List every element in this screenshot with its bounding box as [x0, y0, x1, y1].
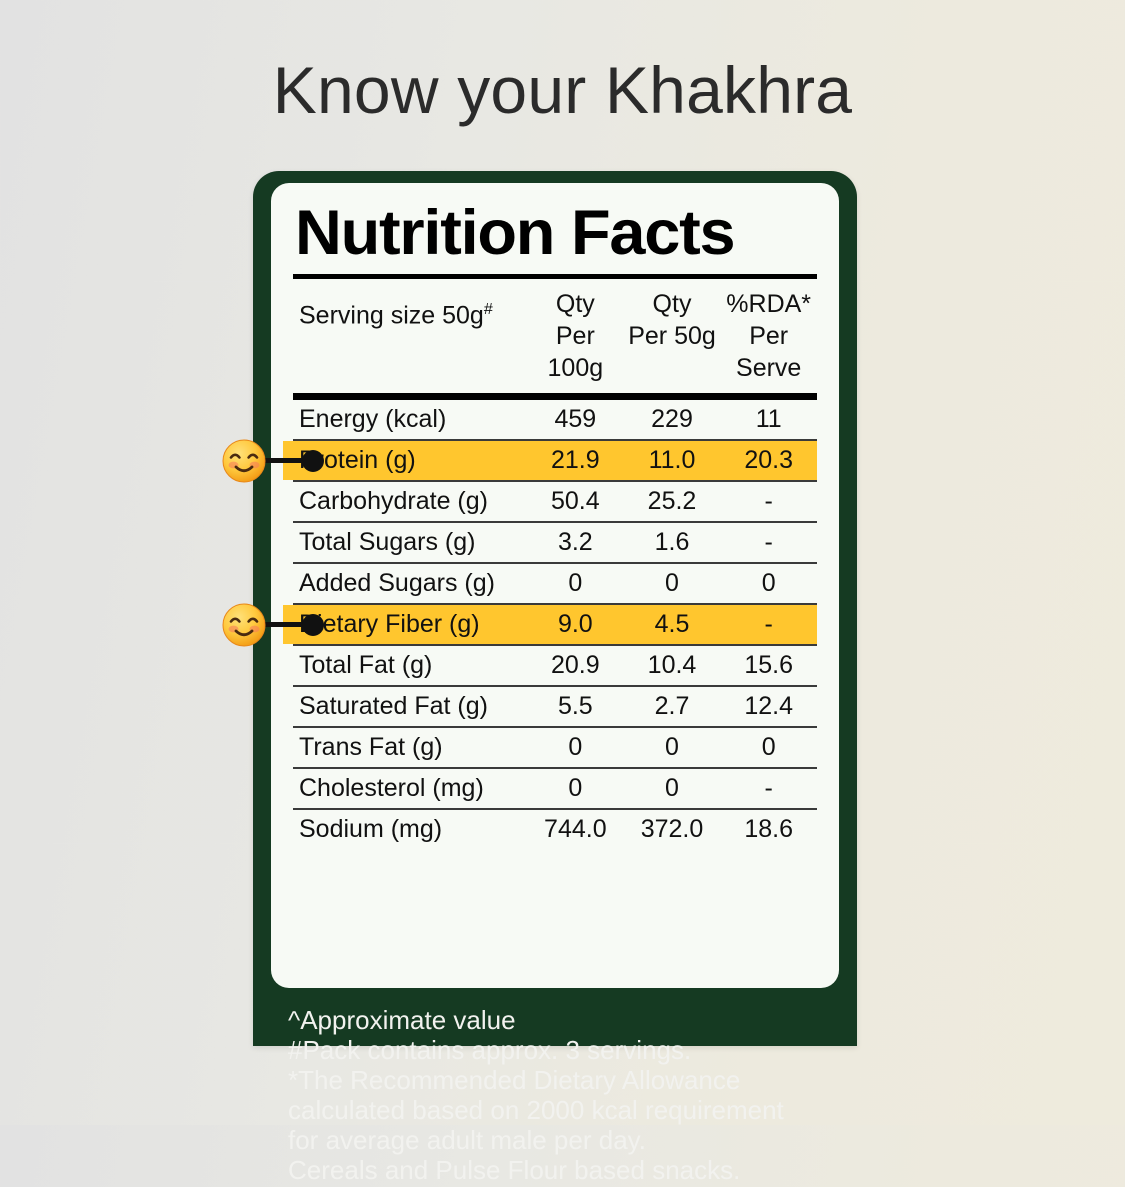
- footnote-line: ^Approximate value: [288, 1007, 828, 1034]
- column-header-per-100g: Qty Per 100g: [527, 288, 624, 384]
- nutrient-value-per50g: 2.7: [624, 692, 721, 721]
- nutrient-value-per100g: 459: [527, 405, 624, 434]
- nutrient-name: Carbohydrate (g): [293, 487, 527, 516]
- footnotes-block: ^Approximate value#Pack contains approx.…: [288, 1007, 828, 1187]
- column-header-rda-line1: %RDA*: [726, 290, 811, 318]
- nutrient-value-per100g: 21.9: [527, 446, 624, 475]
- nutrient-name: Dietary Fiber (g): [293, 610, 527, 639]
- nutrient-name: Total Sugars (g): [293, 528, 527, 557]
- nutrient-name: Trans Fat (g): [293, 733, 527, 762]
- nutrient-name: Energy (kcal): [293, 405, 527, 434]
- nutrient-value-rda: 12.4: [720, 692, 817, 721]
- table-header-row: Serving size 50g# Qty Per 100g Qty Per 5…: [293, 279, 817, 390]
- marker-dot-icon: [302, 614, 324, 636]
- nutrient-value-per50g: 0: [624, 774, 721, 803]
- nutrient-value-per50g: 4.5: [624, 610, 721, 639]
- nutrient-value-rda: -: [720, 610, 817, 639]
- nutrient-name: Cholesterol (mg): [293, 774, 527, 803]
- footnote-line: calculated based on 2000 kcal requiremen…: [288, 1097, 828, 1124]
- page-title: Know your Khakhra: [0, 52, 1125, 128]
- nutrient-value-per50g: 11.0: [624, 446, 721, 475]
- nutrient-value-rda: 20.3: [720, 446, 817, 475]
- nutrient-value-per100g: 20.9: [527, 651, 624, 680]
- nutrient-value-per100g: 0: [527, 774, 624, 803]
- table-row: Total Fat (g)20.910.415.6: [293, 646, 817, 685]
- nutrient-value-rda: 0: [720, 569, 817, 598]
- nutrient-value-per100g: 5.5: [527, 692, 624, 721]
- table-row: Trans Fat (g)000: [293, 728, 817, 767]
- nutrient-value-rda: -: [720, 528, 817, 557]
- page-root: Know your Khakhra Nutrition Facts Servin…: [0, 0, 1125, 1125]
- highlight-marker: [222, 439, 324, 483]
- nutrient-name: Saturated Fat (g): [293, 692, 527, 721]
- footnote-line: Cereals and Pulse Flour based snacks.: [288, 1157, 828, 1184]
- column-header-per-50g-line2: Per 50g: [624, 320, 721, 352]
- header-rule: [293, 393, 817, 400]
- nutrient-name: Sodium (mg): [293, 815, 527, 844]
- nutrient-value-per50g: 0: [624, 569, 721, 598]
- nutrient-value-per50g: 10.4: [624, 651, 721, 680]
- footnote-line: for average adult male per day.: [288, 1127, 828, 1154]
- table-row: Added Sugars (g)000: [293, 564, 817, 603]
- nutrient-value-per50g: 25.2: [624, 487, 721, 516]
- serving-size-footnote-marker: #: [484, 301, 493, 318]
- nutrition-table-body: Energy (kcal)45922911Protein (g)21.911.0…: [293, 400, 817, 849]
- smiling-face-with-smiling-eyes-icon: [222, 439, 266, 483]
- nutrition-facts-panel: Nutrition Facts Serving size 50g# Qty Pe…: [271, 183, 839, 988]
- column-header-rda: %RDA* Per Serve: [720, 288, 817, 384]
- nutrient-value-per100g: 0: [527, 733, 624, 762]
- nutrient-value-per50g: 0: [624, 733, 721, 762]
- highlight-marker: [222, 603, 324, 647]
- nutrition-facts-heading: Nutrition Facts: [295, 201, 833, 265]
- nutrient-value-per50g: 372.0: [624, 815, 721, 844]
- table-row: Protein (g)21.911.020.3: [283, 441, 817, 480]
- nutrient-name: Added Sugars (g): [293, 569, 527, 598]
- table-row: Cholesterol (mg)00-: [293, 769, 817, 808]
- column-header-per-50g-line1: Qty: [653, 290, 692, 318]
- column-header-per-100g-line1: Qty: [556, 290, 595, 318]
- footnote-line: #Pack contains approx. 3 servings.: [288, 1037, 828, 1064]
- table-row: Total Sugars (g)3.21.6-: [293, 523, 817, 562]
- column-header-per-100g-line2: Per 100g: [527, 320, 624, 384]
- table-row: Saturated Fat (g)5.52.712.4: [293, 687, 817, 726]
- column-header-per-50g: Qty Per 50g: [624, 288, 721, 352]
- table-row: Sodium (mg)744.0372.018.6: [293, 810, 817, 849]
- nutrient-value-per50g: 1.6: [624, 528, 721, 557]
- nutrient-value-rda: 11: [720, 405, 817, 434]
- serving-size-label: Serving size 50g#: [293, 288, 527, 330]
- table-row: Energy (kcal)45922911: [293, 400, 817, 439]
- table-row: Carbohydrate (g)50.425.2-: [293, 482, 817, 521]
- nutrient-value-per100g: 50.4: [527, 487, 624, 516]
- nutrient-value-rda: -: [720, 487, 817, 516]
- nutrient-name: Protein (g): [293, 446, 527, 475]
- nutrient-name: Total Fat (g): [293, 651, 527, 680]
- nutrient-value-per100g: 744.0: [527, 815, 624, 844]
- nutrient-value-rda: -: [720, 774, 817, 803]
- nutrient-value-per50g: 229: [624, 405, 721, 434]
- nutrient-value-rda: 0: [720, 733, 817, 762]
- nutrient-value-per100g: 9.0: [527, 610, 624, 639]
- marker-dot-icon: [302, 450, 324, 472]
- footnote-line: *The Recommended Dietary Allowance: [288, 1067, 828, 1094]
- nutrient-value-per100g: 0: [527, 569, 624, 598]
- column-header-rda-line2: Per Serve: [720, 320, 817, 384]
- nutrition-card: Nutrition Facts Serving size 50g# Qty Pe…: [253, 171, 857, 1046]
- nutrient-value-rda: 15.6: [720, 651, 817, 680]
- nutrient-value-per100g: 3.2: [527, 528, 624, 557]
- table-row: Dietary Fiber (g)9.04.5-: [283, 605, 817, 644]
- serving-size-text: Serving size 50g: [299, 302, 484, 330]
- smiling-face-with-smiling-eyes-icon: [222, 603, 266, 647]
- nutrient-value-rda: 18.6: [720, 815, 817, 844]
